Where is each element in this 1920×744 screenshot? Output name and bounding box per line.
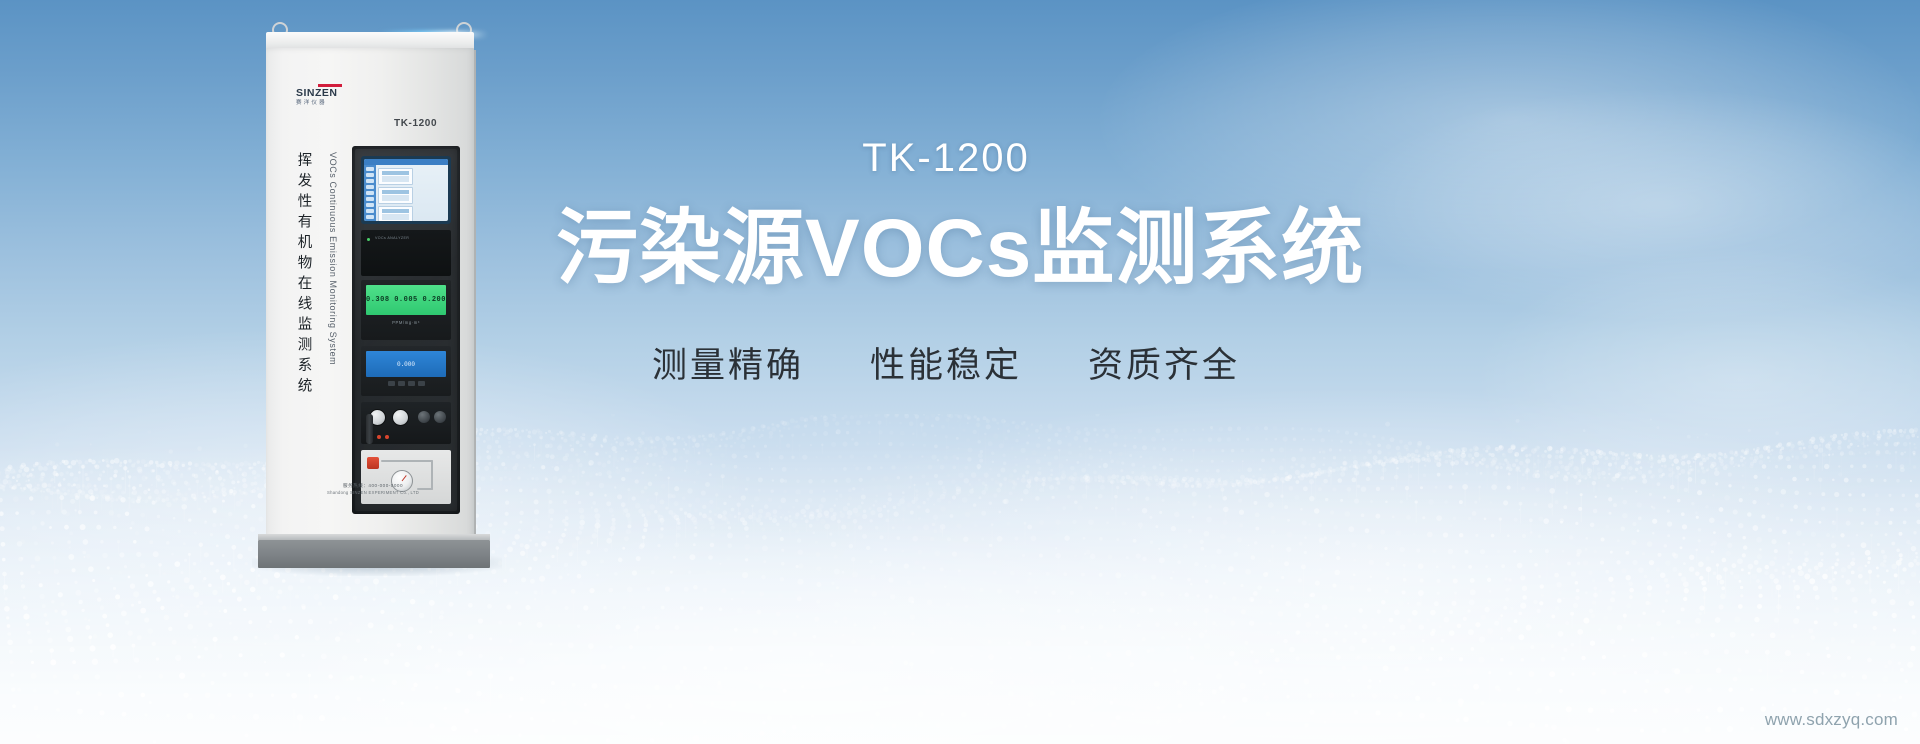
page-title: 污染源VOCs监测系统 [556, 206, 1336, 293]
cabinet-front-face: SINZEN 赛洋仪器 TK-1200 挥发性有机物在线监测系统 VOCs Co… [266, 48, 474, 540]
control-module [361, 402, 451, 444]
product-cabinet-image: SINZEN 赛洋仪器 TK-1200 挥发性有机物在线监测系统 VOCs Co… [258, 22, 498, 570]
hero-banner: SINZEN 赛洋仪器 TK-1200 挥发性有机物在线监测系统 VOCs Co… [0, 0, 1920, 744]
control-knob-icon [434, 411, 446, 423]
brand-name-cn: 赛洋仪器 [296, 101, 368, 107]
instrument-door: VOCs ANALYZER 0.308 0.005 0.200 PPM/mg·m… [352, 146, 460, 514]
control-knob-icon [418, 411, 430, 423]
product-model: TK-1200 [556, 138, 1336, 178]
door-handle [366, 414, 373, 444]
cabinet-plinth [258, 540, 490, 568]
cabinet-vertical-text-en: VOCs Continuous Emission Monitoring Syst… [328, 152, 337, 365]
analyzer-readout-module: 0.308 0.005 0.200 PPM/mg·m³ [361, 280, 451, 340]
brand-logo: SINZEN 赛洋仪器 [296, 84, 368, 106]
brand-name: SINZEN [296, 88, 368, 99]
feature-item: 资质齐全 [1088, 337, 1240, 388]
module-blank-dark: VOCs ANALYZER [361, 230, 451, 276]
feature-item: 测量精确 [652, 337, 804, 388]
cabinet-vertical-text-cn: 挥发性有机物在线监测系统 [296, 152, 311, 398]
cloud-wash [1480, 250, 1920, 510]
emergency-stop-icon [367, 457, 379, 469]
analyzer-value-display: 0.308 0.005 0.200 [366, 285, 446, 315]
meter-dial-icon [392, 409, 409, 426]
feature-item: 性能稳定 [870, 337, 1022, 388]
cabinet-footer-label: 服务热线：400-000-0000 Shandong SINZEN EXPERI… [288, 483, 458, 496]
lcd-module: 0.000 [361, 346, 451, 396]
cabinet-company: Shandong SINZEN EXPERIMENT Co., LTD [288, 490, 458, 496]
hero-copy: TK-1200 污染源VOCs监测系统 测量精确 性能稳定 资质齐全 [556, 138, 1336, 388]
analyzer-unit-label: PPM/mg·m³ [366, 320, 446, 325]
pipe-segment [381, 460, 433, 462]
cloud-wash [780, 390, 1920, 744]
feature-list: 测量精确 性能稳定 资质齐全 [556, 337, 1336, 388]
lcd-button-row [366, 381, 446, 386]
hmi-touchscreen [361, 156, 451, 224]
lcd-value-display: 0.000 [366, 351, 446, 377]
module-tag: VOCs ANALYZER [375, 236, 409, 240]
site-watermark: www.sdxzyq.com [1765, 710, 1898, 730]
cloud-wash [1350, 90, 1920, 320]
cabinet-hotline: 服务热线：400-000-0000 [288, 483, 458, 490]
cabinet-model-plate: TK-1200 [394, 118, 437, 129]
